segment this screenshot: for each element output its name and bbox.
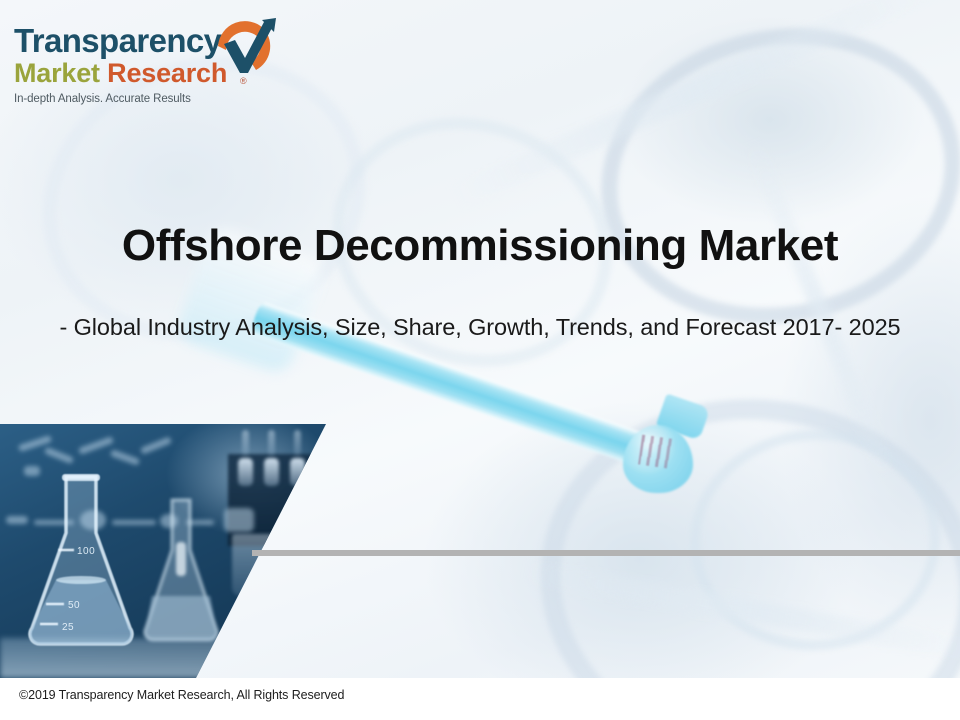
flask-graduation-100: 100 xyxy=(77,546,95,557)
copyright-text: ©2019 Transparency Market Research, All … xyxy=(19,688,344,702)
flask-graduation-50: 50 xyxy=(68,600,80,611)
lab-test-tube xyxy=(268,430,275,456)
lab-test-tube xyxy=(242,430,249,456)
chalkboard-formula-mark xyxy=(224,508,254,532)
company-logo[interactable]: Transparency Market Research In-depth An… xyxy=(14,24,274,124)
logo-tagline: In-depth Analysis. Accurate Results xyxy=(14,93,274,105)
droplet-marking xyxy=(638,435,678,470)
chalkboard-formula-mark xyxy=(140,436,172,454)
chalkboard-formula-mark xyxy=(78,436,114,455)
page-title: Offshore Decommissioning Market xyxy=(0,222,960,270)
lab-test-tube xyxy=(264,458,279,486)
flask-graduation-25: 25 xyxy=(62,622,74,633)
lab-test-tube xyxy=(294,430,301,456)
lab-flask-main xyxy=(22,472,140,652)
presentation-slide: Transparency Market Research In-depth An… xyxy=(0,0,960,720)
logo-word-market: Market xyxy=(14,58,100,88)
chalkboard-formula-mark xyxy=(44,447,74,465)
lab-test-tube xyxy=(238,458,253,486)
divider-rule xyxy=(252,550,960,556)
lab-flask-rear xyxy=(138,496,224,644)
footer-bar: ©2019 Transparency Market Research, All … xyxy=(0,678,960,720)
chalkboard-formula-mark xyxy=(110,449,141,466)
page-subtitle: - Global Industry Analysis, Size, Share,… xyxy=(0,313,960,342)
registered-trademark-icon: ® xyxy=(240,76,247,86)
